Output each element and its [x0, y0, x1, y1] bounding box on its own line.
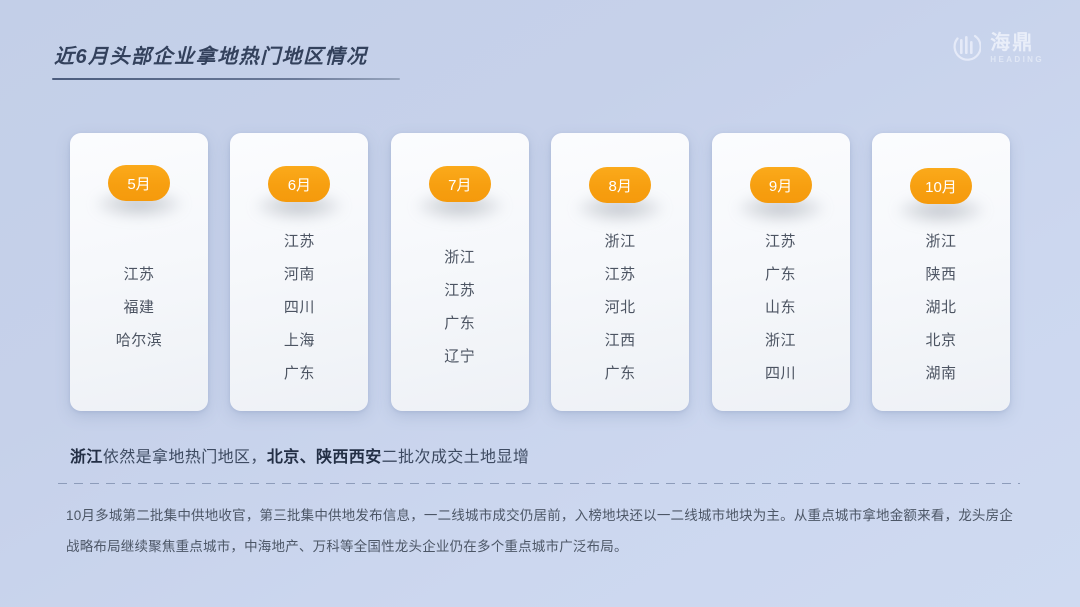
- month-badge-wrap: 10月: [872, 168, 1010, 204]
- brand-wordmark: 海鼎 HEADING: [990, 33, 1044, 64]
- month-badge[interactable]: 9月: [750, 167, 812, 203]
- title-underline: [52, 78, 400, 80]
- city-item: 北京: [872, 324, 1010, 357]
- month-badge[interactable]: 5月: [108, 165, 170, 201]
- city-item: 浙江: [391, 241, 529, 274]
- city-item: 福建: [70, 291, 208, 324]
- city-item: 哈尔滨: [70, 324, 208, 357]
- city-item: 陕西: [872, 258, 1010, 291]
- brand-name-cn: 海鼎: [990, 33, 1034, 53]
- city-item: 江苏: [712, 225, 850, 258]
- city-item: 江苏: [230, 225, 368, 258]
- city-item: 江西: [551, 324, 689, 357]
- month-cards-row: 5月 江苏 福建 哈尔滨 6月 江苏 河南 四川 上海 广东 7月 浙江 江苏 …: [70, 133, 1010, 411]
- month-badge-wrap: 7月: [391, 166, 529, 202]
- month-card[interactable]: 7月 浙江 江苏 广东 辽宁: [391, 133, 529, 411]
- city-item: 浙江: [872, 225, 1010, 258]
- city-item: 广东: [551, 357, 689, 390]
- city-item: 江苏: [551, 258, 689, 291]
- city-item: 湖南: [872, 357, 1010, 390]
- month-badge-wrap: 8月: [551, 167, 689, 203]
- summary-text-2: 二批次成交土地显增: [382, 449, 530, 466]
- month-card[interactable]: 6月 江苏 河南 四川 上海 广东: [230, 133, 368, 411]
- city-list: 江苏 广东 山东 浙江 四川: [712, 225, 850, 390]
- city-item: 山东: [712, 291, 850, 324]
- city-item: 四川: [712, 357, 850, 390]
- city-item: 江苏: [391, 274, 529, 307]
- city-item: 浙江: [551, 225, 689, 258]
- city-item: 河北: [551, 291, 689, 324]
- month-card[interactable]: 8月 浙江 江苏 河北 江西 广东: [551, 133, 689, 411]
- city-item: 江苏: [70, 258, 208, 291]
- city-list: 江苏 河南 四川 上海 广东: [230, 225, 368, 390]
- month-badge[interactable]: 10月: [910, 168, 972, 204]
- brand-logo: 海鼎 HEADING: [951, 32, 1044, 64]
- month-badge[interactable]: 7月: [429, 166, 491, 202]
- city-item: 广东: [712, 258, 850, 291]
- heading-logo-icon: [951, 32, 981, 64]
- city-item: 辽宁: [391, 340, 529, 373]
- city-item: 上海: [230, 324, 368, 357]
- city-item: 广东: [391, 307, 529, 340]
- summary-highlight-cities: 北京、陕西西安: [267, 449, 382, 466]
- month-badge-wrap: 9月: [712, 167, 850, 203]
- month-badge[interactable]: 8月: [589, 167, 651, 203]
- summary-headline: 浙江依然是拿地热门地区，北京、陕西西安二批次成交土地显增: [70, 443, 529, 467]
- summary-highlight-province: 浙江: [70, 449, 103, 466]
- city-item: 河南: [230, 258, 368, 291]
- brand-name-en: HEADING: [990, 56, 1044, 64]
- city-list: 浙江 江苏 河北 江西 广东: [551, 225, 689, 390]
- month-badge-wrap: 6月: [230, 166, 368, 202]
- month-card[interactable]: 10月 浙江 陕西 湖北 北京 湖南: [872, 133, 1010, 411]
- month-card[interactable]: 9月 江苏 广东 山东 浙江 四川: [712, 133, 850, 411]
- city-item: 浙江: [712, 324, 850, 357]
- summary-text-1: 依然是拿地热门地区，: [103, 449, 267, 466]
- city-item: 广东: [230, 357, 368, 390]
- city-list: 江苏 福建 哈尔滨: [70, 258, 208, 357]
- city-item: 四川: [230, 291, 368, 324]
- body-paragraph: 10月多城第二批集中供地收官，第三批集中供地发布信息，一二线城市成交仍居前，入榜…: [66, 500, 1016, 562]
- month-badge[interactable]: 6月: [268, 166, 330, 202]
- month-card[interactable]: 5月 江苏 福建 哈尔滨: [70, 133, 208, 411]
- month-badge-wrap: 5月: [70, 165, 208, 201]
- city-list: 浙江 陕西 湖北 北京 湖南: [872, 225, 1010, 390]
- page-header: 近6月头部企业拿地热门地区情况 海鼎 HEADING: [0, 0, 1080, 112]
- city-item: 湖北: [872, 291, 1010, 324]
- page-title: 近6月头部企业拿地热门地区情况: [54, 40, 368, 69]
- city-list: 浙江 江苏 广东 辽宁: [391, 241, 529, 373]
- dashed-divider: [58, 483, 1020, 484]
